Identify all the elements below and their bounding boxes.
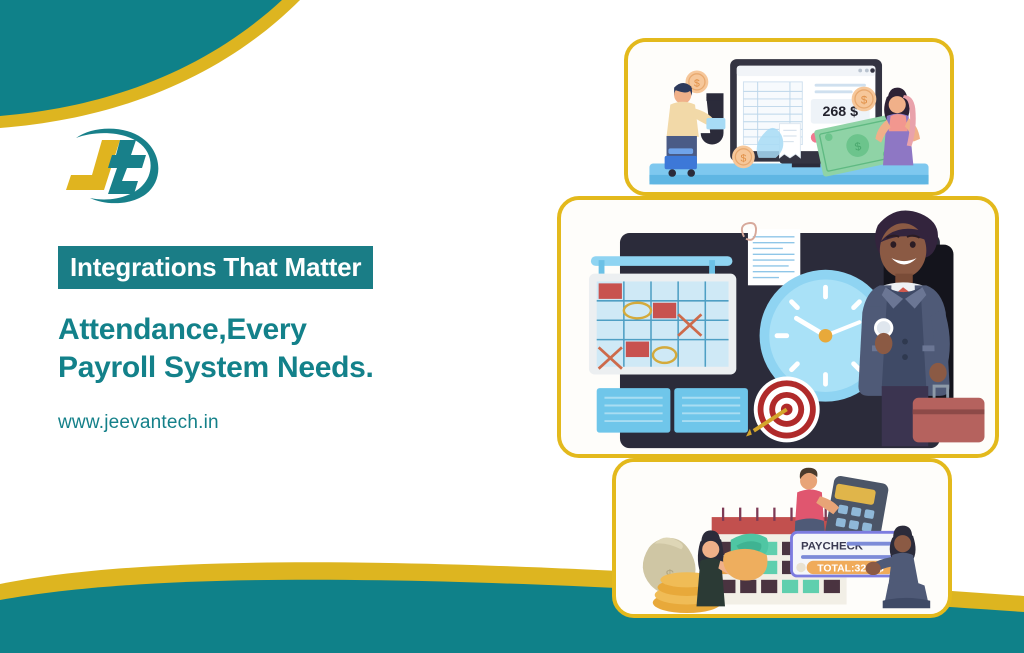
- subheadline-line-1: Attendance,Every: [58, 311, 528, 349]
- top-left-gold-wave: [0, 0, 300, 128]
- calendar-mark-red-1: [599, 283, 622, 299]
- calendar-board: [589, 274, 736, 375]
- top-left-teal-wave: [0, 0, 282, 116]
- dollar-coin-3: $: [732, 145, 755, 168]
- dollar-coin-2: $: [852, 87, 877, 112]
- left-content-column: Integrations That Matter Attendance,Ever…: [58, 128, 528, 434]
- document-paper: [742, 223, 800, 285]
- svg-text:$: $: [861, 95, 868, 107]
- payroll-monitor-card: 268 $ $ $ $ $: [624, 38, 954, 196]
- monitor-amount: 268 $: [822, 104, 858, 120]
- subheadline-line-2: Payroll System Needs.: [58, 349, 528, 387]
- paycheck-card: $: [612, 458, 952, 618]
- subheadline: Attendance,Every Payroll System Needs.: [58, 311, 528, 388]
- headline-banner: Integrations That Matter: [58, 246, 373, 289]
- calendar-mark-red-2: [653, 303, 676, 319]
- svg-text:$: $: [741, 154, 747, 165]
- calendar-mark-red-3: [626, 342, 649, 358]
- svg-text:$: $: [694, 79, 700, 90]
- paycheck-slip: PAYCHECK TOTAL:3200$: [792, 532, 908, 576]
- jeevantech-jt-logo: [58, 128, 178, 206]
- website-url[interactable]: www.jeevantech.in: [58, 412, 528, 434]
- attendance-clock-card: [557, 196, 999, 458]
- poster-canvas: Integrations That Matter Attendance,Ever…: [0, 0, 1024, 653]
